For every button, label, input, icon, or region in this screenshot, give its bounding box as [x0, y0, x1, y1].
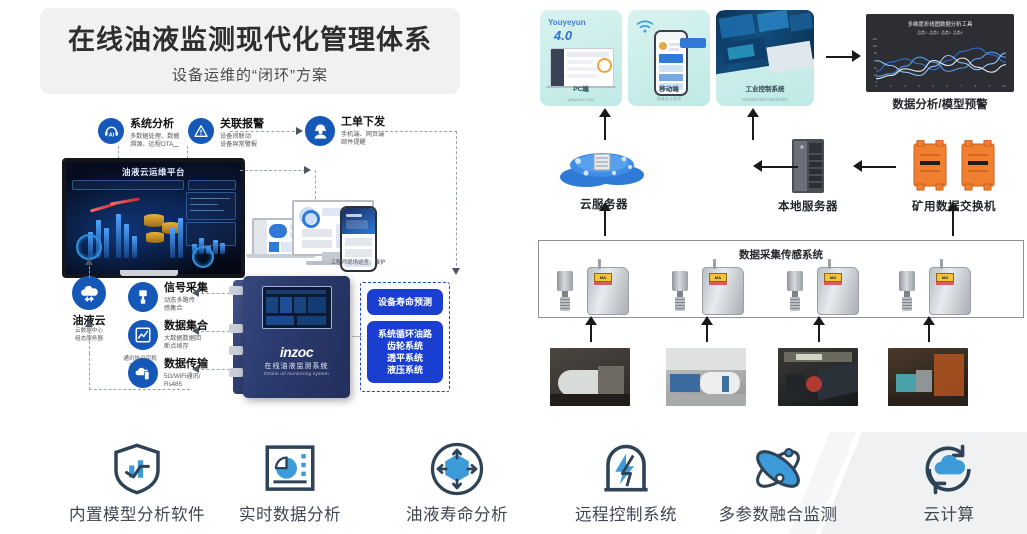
transmitter-icon: MA	[929, 267, 971, 315]
arrow-head	[701, 316, 713, 325]
bottom-item-1: 内置模型分析软件	[62, 440, 212, 525]
spec-chip-life-prediction: 设备寿命预测	[367, 289, 443, 315]
bottom-item-3: 油液寿命分析	[382, 440, 532, 525]
connector-arrowhead	[192, 327, 199, 335]
arrow-head	[753, 160, 762, 172]
monitor-stand	[120, 270, 178, 276]
connector-device-transmit	[196, 369, 230, 370]
feature-sub: 5G/WiFi通讯/ Rs485	[164, 373, 208, 389]
app-card-title: PC端	[540, 83, 622, 93]
chat-bubble-icon	[680, 38, 706, 48]
device-name-cn: 在线油液监测系统	[243, 361, 350, 371]
feature-sub: 手机端、网页端 邮件提醒	[341, 131, 385, 147]
feature-data-aggregate: 数据集合 大数据数据回 断点续存	[128, 320, 208, 351]
connector-right-vertical	[456, 131, 457, 271]
cloud-server-icon	[556, 143, 652, 193]
ma-badge: MA	[824, 273, 842, 282]
oil-probe-icon	[557, 271, 573, 311]
page-subtitle: 设备运维的“闭环”方案	[172, 64, 328, 85]
ma-badge: MA	[594, 273, 612, 282]
arrow-local-to-industrial	[752, 114, 754, 140]
data-aggregate-icon	[128, 320, 158, 350]
connector-arrowhead	[296, 127, 303, 135]
bottom-item-label: 云计算	[874, 501, 1024, 525]
svg-text:AI: AI	[108, 132, 114, 138]
lightning-icon	[551, 440, 701, 498]
connector-cloud-down	[89, 326, 90, 354]
arrow-cloud-to-pc	[604, 114, 606, 140]
laptop-icon	[550, 48, 614, 88]
arrow-head	[747, 108, 759, 117]
feature-signal-collect: 信号采集 动态多路传 感集合	[128, 282, 208, 313]
equipment-photo-1: 转载机	[550, 348, 630, 406]
sensor-pair: MA	[779, 263, 874, 313]
bottom-feature-row: 内置模型分析软件 实时数据分析 油液寿命分析 远程控制系统 多参数融合监测 云计…	[0, 432, 1027, 534]
wifi-icon	[636, 20, 654, 39]
app-card-pc[interactable]: Youyeyun 4.0 PC端 youyeyun.com	[540, 10, 622, 106]
engineer-caption: 工程师现场巡查、维护	[258, 258, 458, 266]
app-brand: Youyeyun	[548, 18, 586, 27]
chart-plot	[876, 38, 1006, 88]
arrow-head	[923, 316, 935, 325]
cube-arrows-icon	[382, 440, 532, 498]
cloud-sync-icon	[72, 276, 106, 310]
analysis-chart-panel: 多维度折线图数据分析工具 品类1 品类2 品类3 品类4 12010080604…	[866, 14, 1014, 92]
sensor-system-box: 数据采集传感系统 MA MA MA MA	[538, 240, 1024, 318]
connector-arrowhead	[85, 258, 93, 265]
monitor-platform-title: 油液云运维平台	[66, 166, 241, 178]
monitor-panel-bars	[186, 222, 236, 246]
cloud-refresh-icon	[874, 440, 1024, 498]
monitor-gauge	[76, 234, 102, 260]
arrow-head	[813, 316, 825, 325]
equipment-photo-2: 破碎机	[666, 348, 746, 406]
legend-entry: 品类4	[953, 31, 963, 35]
feature-title: 关联报警	[220, 118, 264, 131]
bottom-item-6: 云计算	[874, 440, 1024, 525]
worker-icon	[305, 116, 335, 146]
feature-sub: 大数据数据回 断点续存	[164, 335, 208, 351]
ai-icon: AI	[98, 118, 124, 144]
connector-arrowhead	[85, 320, 93, 327]
app-card-mobile[interactable]: 移动端 油液云小程序	[628, 10, 710, 106]
feature-system-analysis: AI 系统分析 多数据处理、数据 溯源、远程OTA	[98, 118, 180, 149]
page-title-card: 在线油液监测现代化管理体系 设备运维的“闭环”方案	[40, 8, 460, 94]
oil-probe-icon	[787, 271, 803, 311]
legend-entry: 品类3	[941, 31, 951, 35]
sensor-system-title: 数据采集传感系统	[539, 247, 1023, 262]
arrow-head	[599, 202, 611, 211]
device-name-en: Online oil monitoring system	[243, 371, 350, 376]
monitor-topbar	[72, 180, 184, 190]
feature-sub: 动态多路传 感集合	[164, 297, 208, 313]
bottom-item-label: 多参数融合监测	[703, 501, 853, 525]
legend-entry: 品类2	[929, 31, 939, 35]
monitor-gauge-2	[192, 246, 214, 268]
arrow-sensors-to-switch	[952, 208, 954, 236]
arrow-sensors-to-cloud	[604, 208, 606, 236]
page-title: 在线油液监测现代化管理体系	[68, 18, 432, 57]
chart-caption: 数据分析/模型预警	[856, 96, 1024, 112]
feature-linked-alarm: 关联报警 设备间联动 设备异常警报	[188, 118, 264, 149]
app-version: 4.0	[554, 28, 572, 43]
sensor-pair: MA	[664, 263, 759, 313]
arrow-switch-to-local	[862, 166, 896, 168]
connector-arrowhead	[304, 166, 311, 174]
arrow-eq2-up	[706, 322, 708, 342]
connector-arrowhead	[192, 365, 199, 373]
transmitter-icon: MA	[587, 267, 629, 315]
bottom-item-5: 多参数融合监测	[703, 440, 853, 525]
bottom-item-label: 油液寿命分析	[382, 501, 532, 525]
arrow-head	[852, 50, 861, 62]
ma-badge: MA	[936, 273, 954, 282]
inzoc-monitoring-device: inzoc 在线油液监测系统 Online oil monitoring sys…	[243, 276, 350, 398]
connector-arrowhead	[192, 289, 199, 297]
legend-entry: 品类1	[917, 31, 927, 35]
control-room-icon	[716, 10, 814, 92]
oil-probe-icon	[672, 271, 688, 311]
arrow-eq3-up	[818, 322, 820, 342]
connector-order-right	[385, 131, 457, 132]
arrow-eq1-up	[590, 322, 592, 342]
bottom-item-4: 远程控制系统	[551, 440, 701, 525]
arrow-eq4-up	[928, 322, 930, 342]
app-card-title: 移动端	[628, 83, 710, 93]
connector-device-signal	[196, 293, 230, 294]
arrow-head	[599, 108, 611, 117]
shield-chart-icon	[62, 440, 212, 498]
sensor-pair: MA	[549, 263, 644, 313]
chart-title: 多维度折线图数据分析工具	[866, 20, 1014, 28]
ma-badge: MA	[709, 273, 727, 282]
feature-data-transmit: 数据传输 5G/WiFi通讯/ Rs485	[128, 358, 208, 389]
device-brand: inzoc	[243, 344, 350, 360]
bottom-item-label: 远程控制系统	[551, 501, 701, 525]
connector-device-aggregate	[196, 331, 230, 332]
connector-monitor-right	[240, 170, 306, 171]
feature-title: 系统分析	[130, 118, 180, 131]
device-screen	[262, 286, 332, 329]
warning-triangle-icon	[188, 118, 214, 144]
atom-icon	[703, 440, 853, 498]
signal-collect-icon	[128, 282, 158, 312]
data-transmit-icon	[128, 358, 158, 388]
arrow-cards-to-chart	[826, 56, 854, 58]
spec-box: 设备寿命预测 系统循环油路 齿轮系统 透平系统 液压系统	[360, 282, 450, 392]
spec-chip-systems: 系统循环油路 齿轮系统 透平系统 液压系统	[367, 321, 443, 383]
bottom-item-label: 实时数据分析	[215, 501, 365, 525]
chart-legend: 品类1 品类2 品类3 品类4	[866, 31, 1014, 36]
oil-probe-icon	[899, 271, 915, 311]
connector-arrowhead	[452, 268, 460, 275]
app-card-industrial[interactable]: 工业控制系统 RS485/232/RJ45/4G/5G	[716, 10, 814, 106]
feature-sub: 设备间联动 设备异常警报	[220, 133, 264, 149]
app-card-sub: 油液云小程序	[628, 96, 710, 102]
bottom-item-2: 实时数据分析	[215, 440, 365, 525]
equipment-photo-4: 皮带机	[888, 348, 968, 406]
mine-switch-icon	[957, 140, 999, 192]
arrow-head	[947, 202, 959, 211]
node-label: 本地服务器	[758, 198, 858, 214]
transmitter-icon: MA	[702, 267, 744, 315]
app-card-sub: youyeyun.com	[540, 97, 622, 102]
chart-y-axis: 120100806040200	[868, 36, 877, 86]
arrow-local-to-cloud	[762, 166, 798, 168]
monitor-topbar-right	[188, 180, 236, 190]
chart-x-axis: 12345678910	[876, 84, 1006, 88]
node-local-server: 本地服务器	[758, 136, 858, 214]
bottom-item-label: 内置模型分析软件	[62, 501, 212, 525]
feature-title: 工单下发	[341, 116, 385, 129]
arrow-head	[585, 316, 597, 325]
pie-chart-icon	[215, 440, 365, 498]
feature-work-order: 工单下发 手机端、网页端 邮件提醒	[305, 116, 385, 147]
sensor-pair: MA	[891, 263, 986, 313]
arrow-head	[853, 160, 862, 172]
transmitter-icon: MA	[817, 267, 859, 315]
equipment-photo-3: 运输机	[778, 348, 858, 406]
mine-switch-icon	[909, 140, 951, 192]
app-card-sub: RS485/232/RJ45/4G/5G	[716, 97, 814, 102]
connector-alarm-to-order	[230, 131, 300, 132]
monitor-panel-right	[186, 192, 236, 220]
app-card-title: 工业控制系统	[716, 83, 814, 93]
